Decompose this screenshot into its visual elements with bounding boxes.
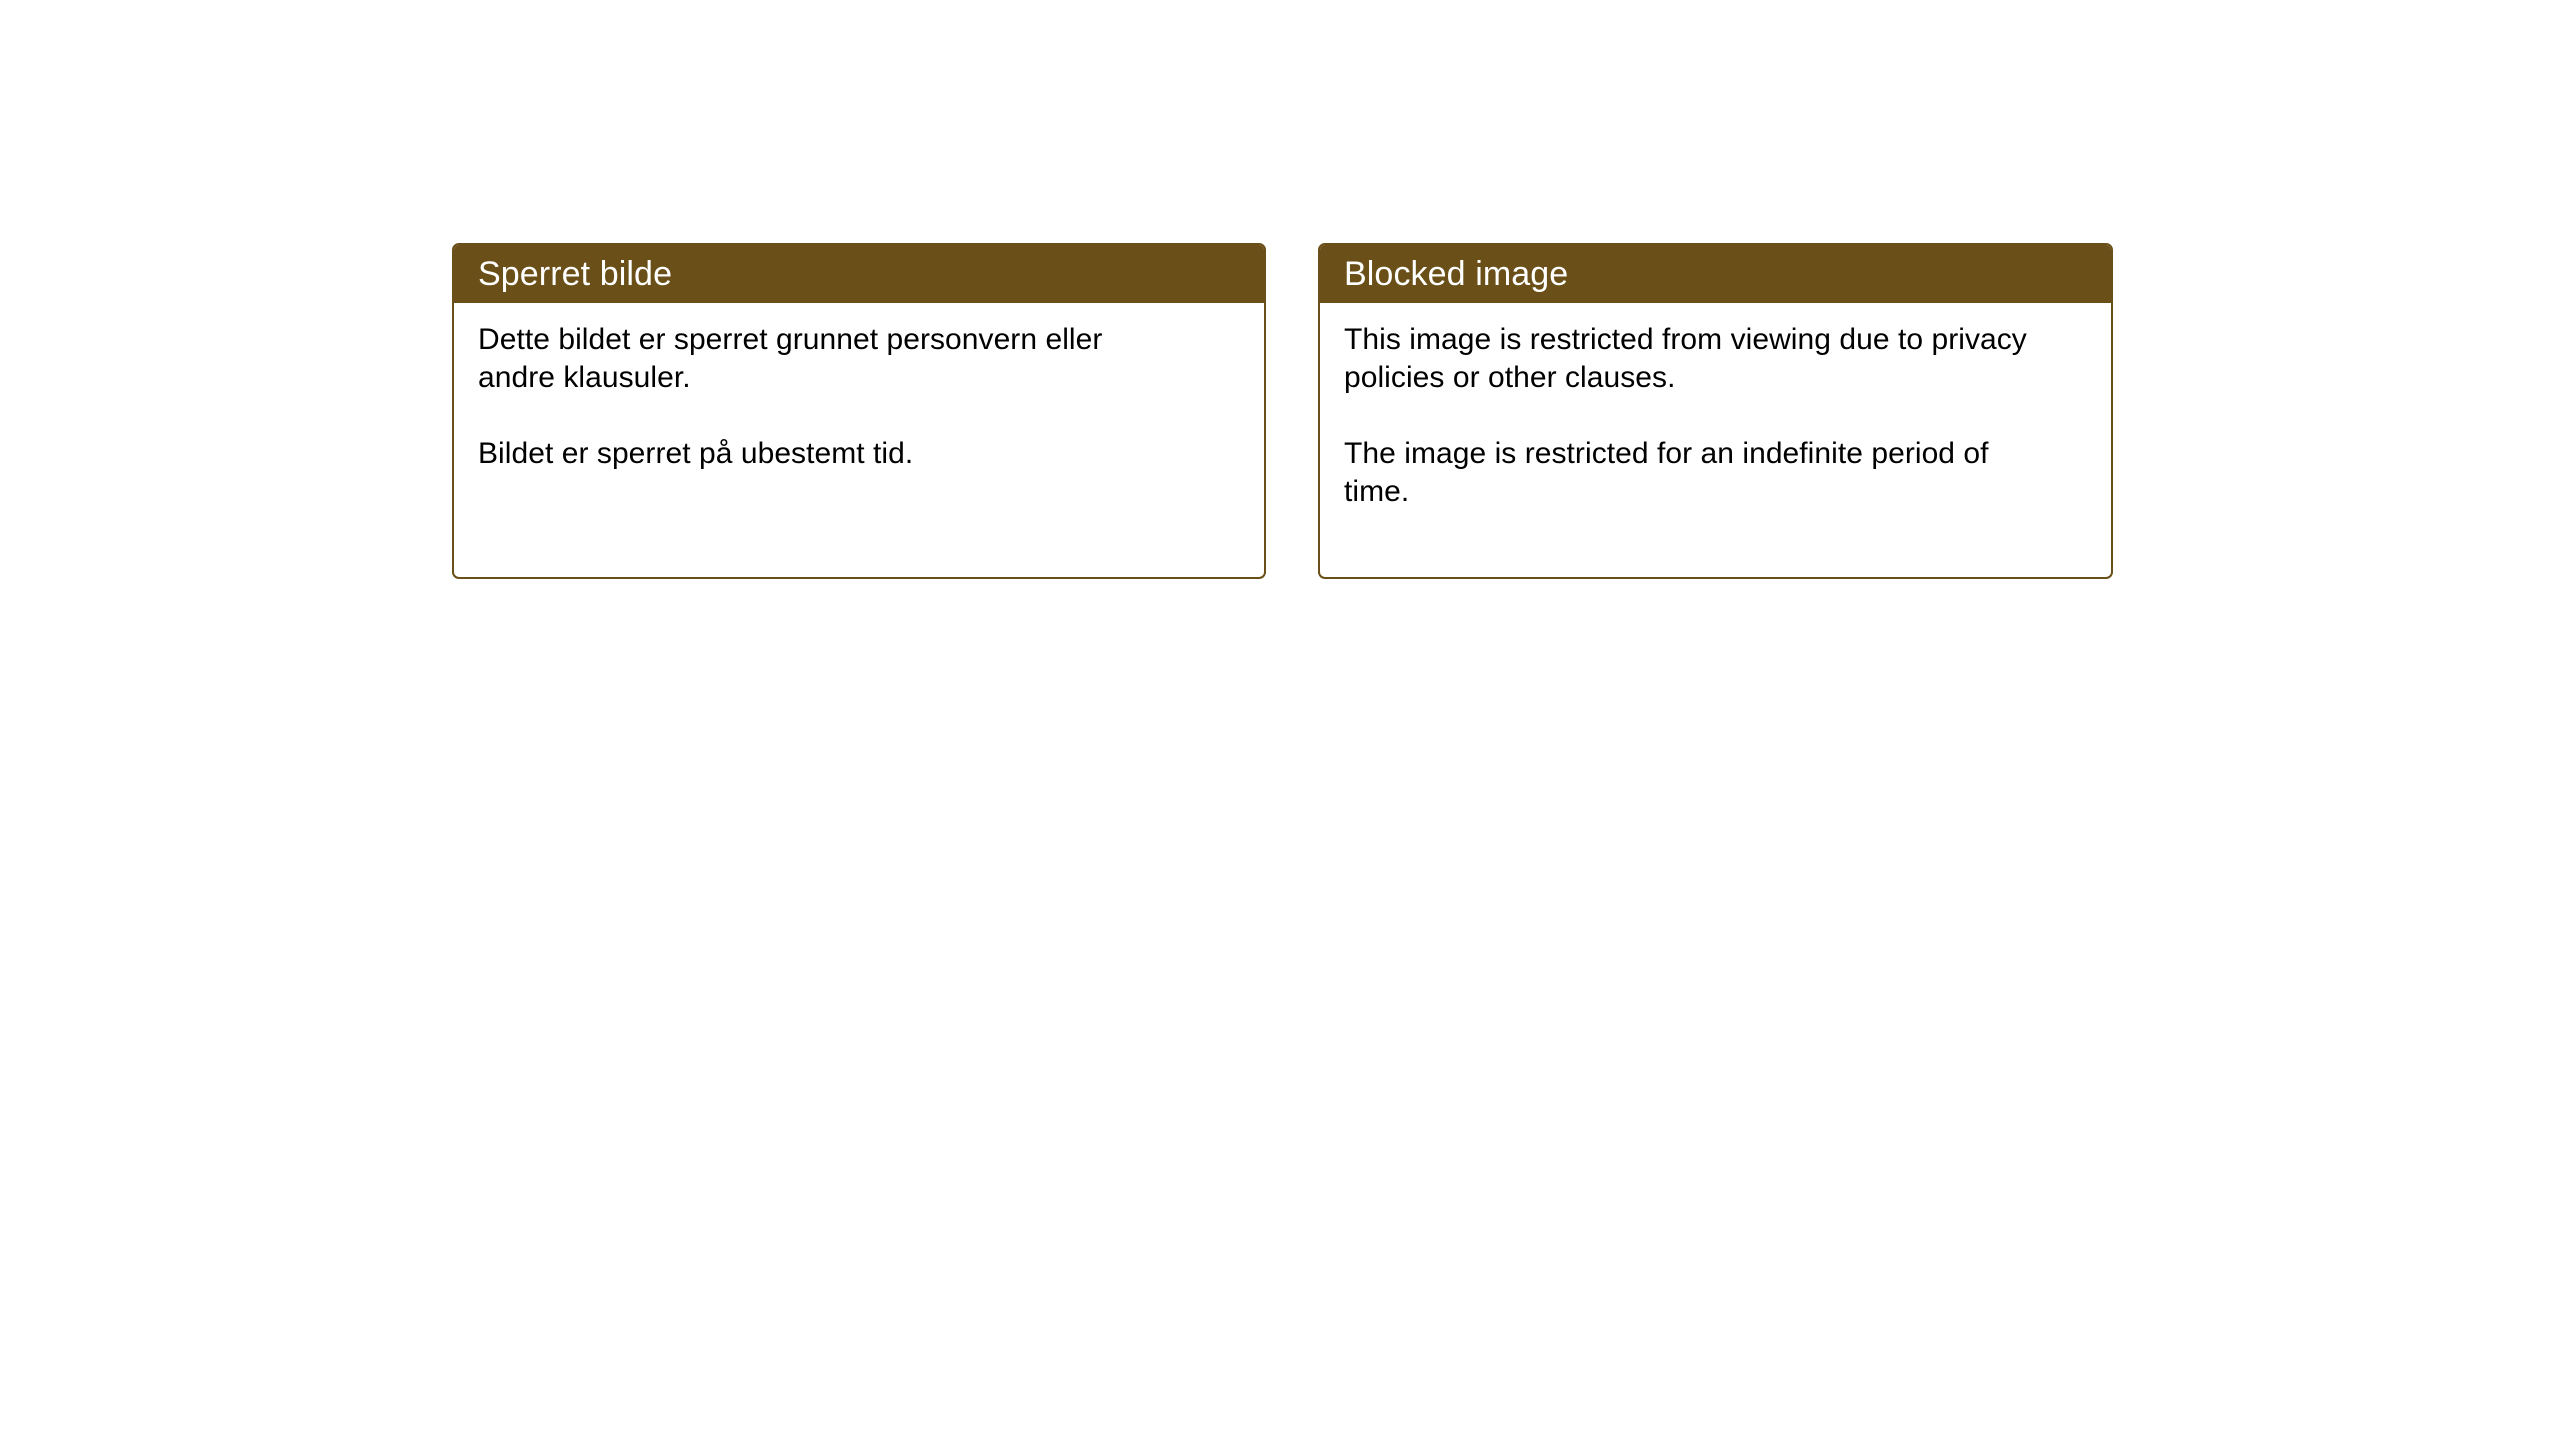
blocked-image-notice-card-norwegian: Sperret bilde Dette bildet er sperret gr… <box>452 243 1266 579</box>
card-body-norwegian: Dette bildet er sperret grunnet personve… <box>454 303 1264 493</box>
card-paragraph-primary-english: This image is restricted from viewing du… <box>1344 321 2034 397</box>
card-title-english: Blocked image <box>1344 255 1568 293</box>
card-title-norwegian: Sperret bilde <box>478 255 672 293</box>
card-body-english: This image is restricted from viewing du… <box>1320 303 2111 531</box>
card-paragraph-primary-norwegian: Dette bildet er sperret grunnet personve… <box>478 321 1178 397</box>
blocked-image-notice-card-english: Blocked image This image is restricted f… <box>1318 243 2113 579</box>
card-paragraph-secondary-norwegian: Bildet er sperret på ubestemt tid. <box>478 435 1178 473</box>
card-paragraph-secondary-english: The image is restricted for an indefinit… <box>1344 435 2034 511</box>
page-stage: Sperret bilde Dette bildet er sperret gr… <box>0 0 2560 1440</box>
card-header-english: Blocked image <box>1320 245 2111 303</box>
card-header-norwegian: Sperret bilde <box>454 245 1264 303</box>
